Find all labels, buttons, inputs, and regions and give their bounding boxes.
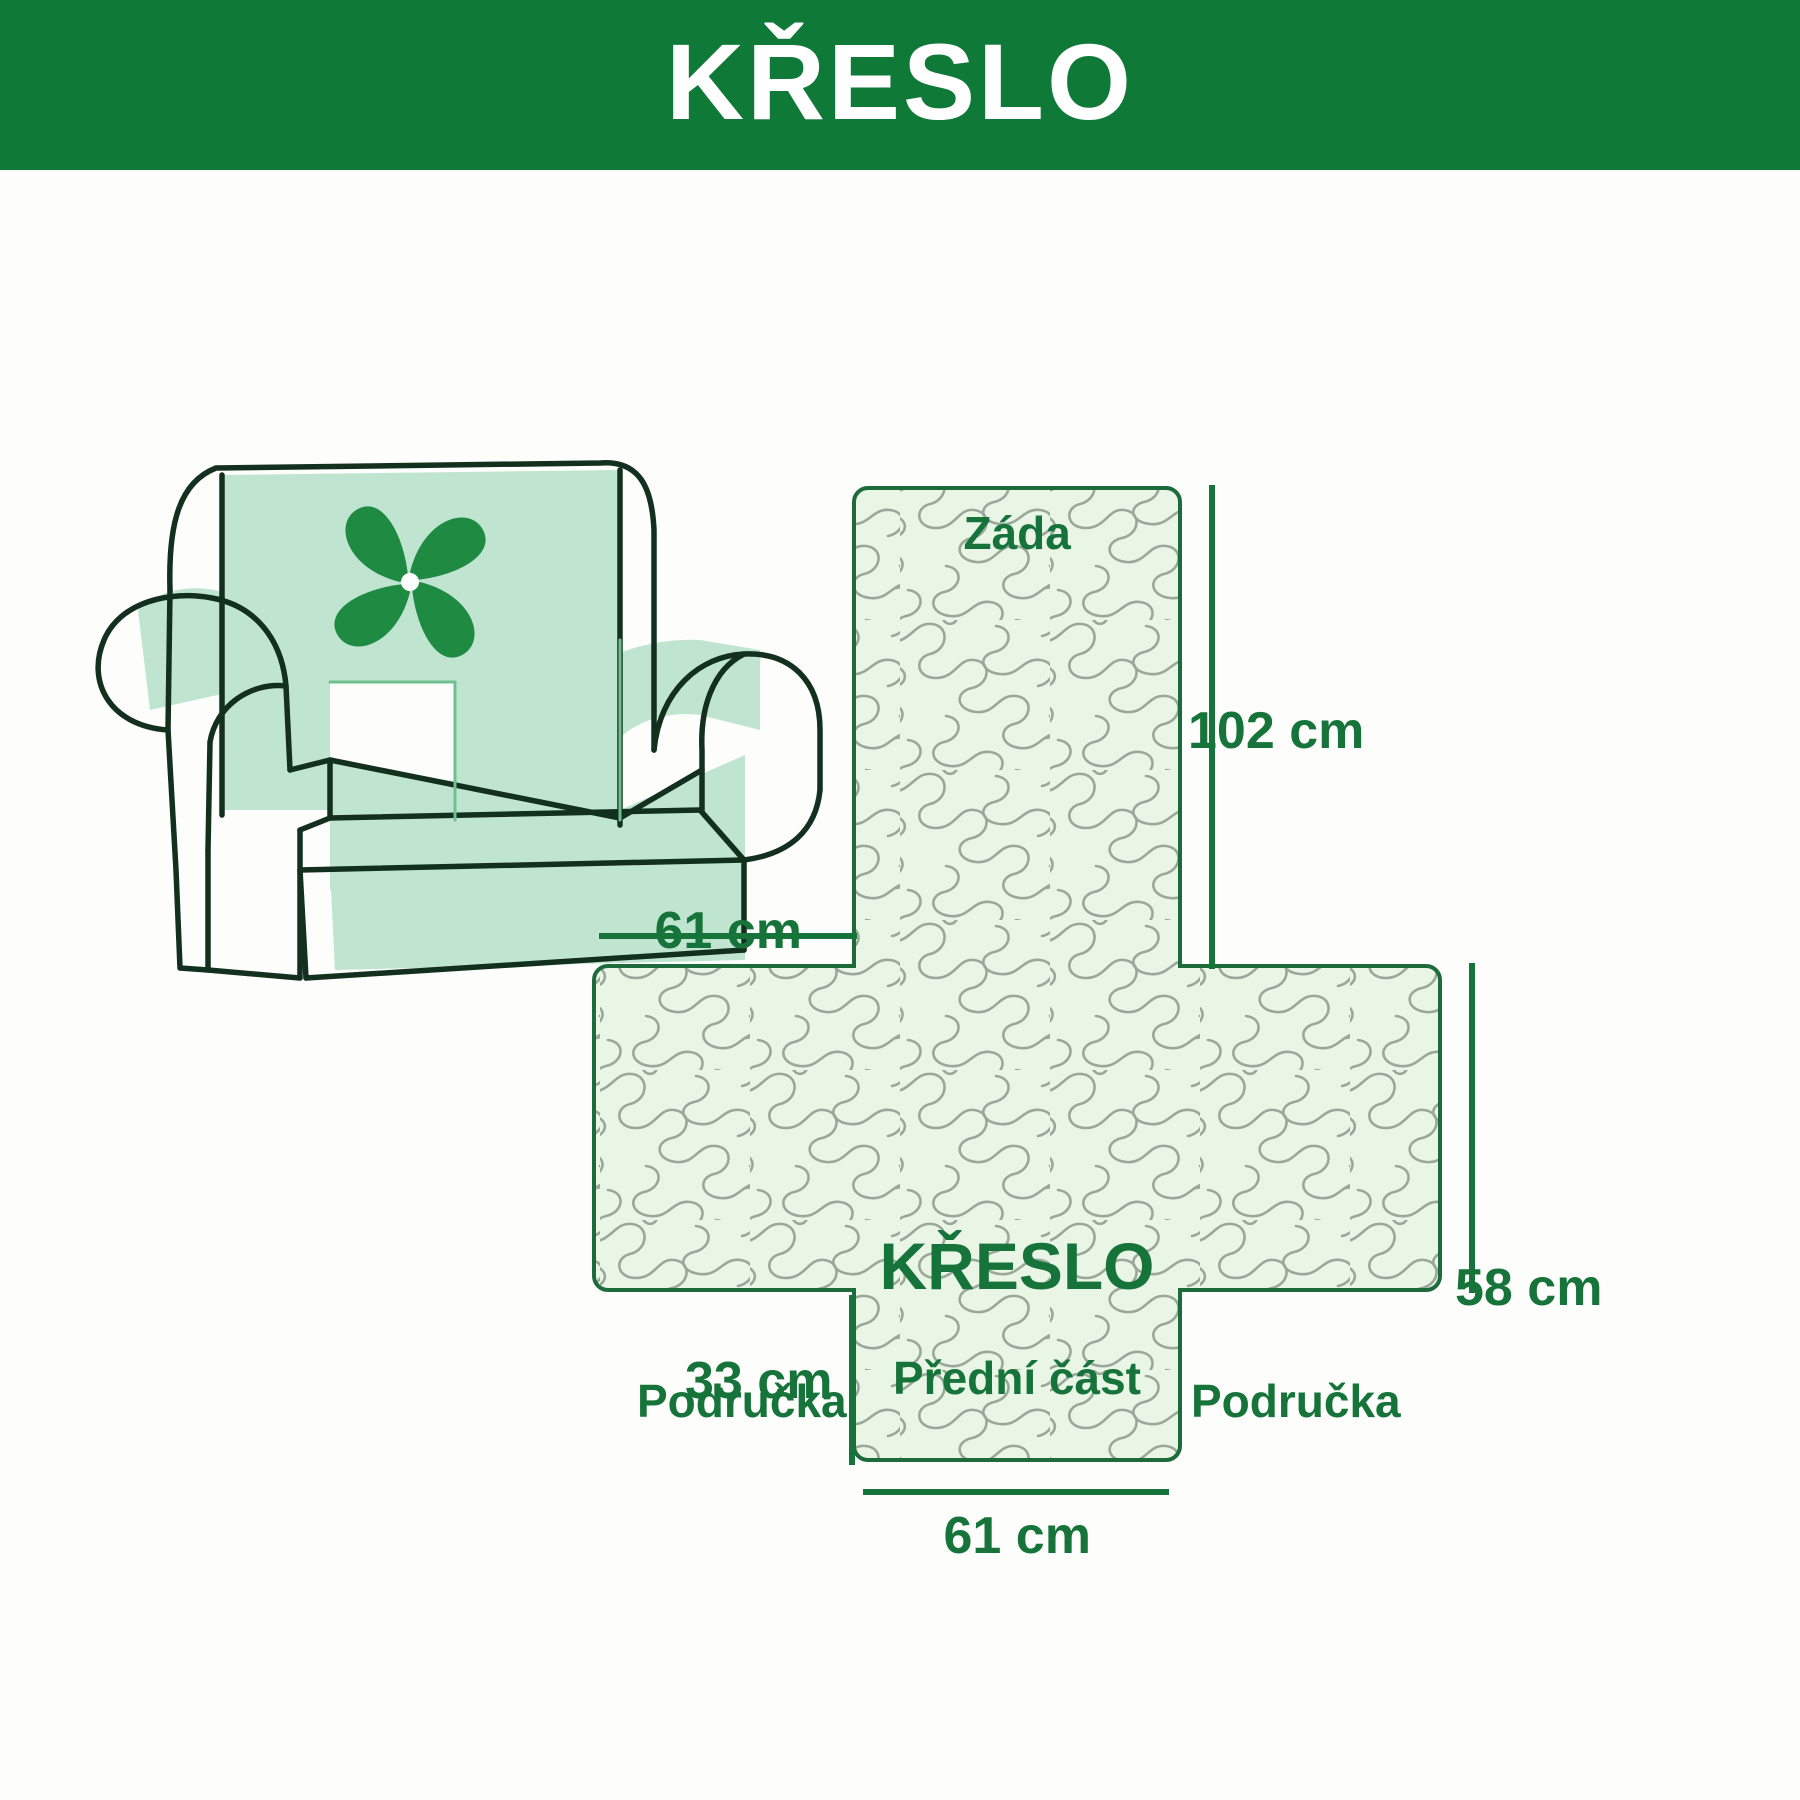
page-title: KŘESLO — [666, 28, 1134, 136]
cross-outline — [594, 488, 1440, 1460]
page-root: KŘESLO — [0, 0, 1800, 1800]
armchair-drawing — [98, 463, 820, 978]
panel-label-front: Přední část — [893, 1355, 1141, 1401]
dimension-label-33cm: 33 cm — [685, 1355, 832, 1407]
dimension-label-102cm: 102 cm — [1188, 705, 1364, 757]
dimension-label-61cm-top: 61 cm — [655, 905, 802, 957]
header-banner: KŘESLO — [0, 0, 1800, 170]
dimension-label-58cm: 58 cm — [1455, 1262, 1602, 1314]
panel-label-back: Záda — [964, 510, 1071, 556]
chair-cover-backrest — [222, 470, 620, 825]
armchair-illustration — [0, 170, 1800, 1800]
cover-pattern-shape — [594, 488, 1440, 1460]
diagram-canvas: Záda KŘESLO Područka Područka Přední čás… — [0, 170, 1800, 1800]
dimension-label-61cm-bottom: 61 cm — [944, 1510, 1091, 1562]
panel-label-seat: KŘESLO — [880, 1233, 1155, 1299]
panel-label-arm-right: Područka — [1191, 1378, 1401, 1424]
